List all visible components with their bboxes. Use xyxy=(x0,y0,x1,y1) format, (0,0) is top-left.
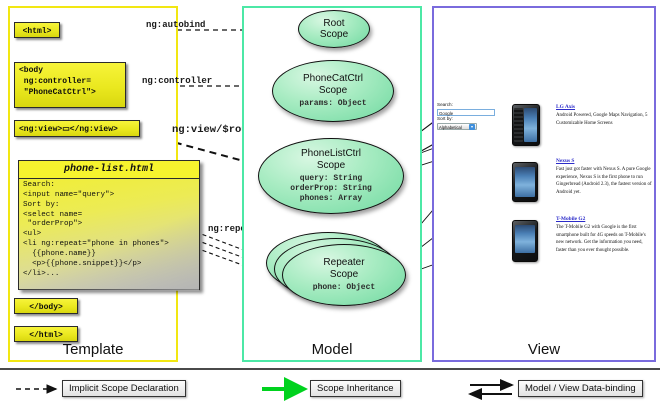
phone-screen xyxy=(515,167,535,197)
phone-screen xyxy=(515,225,535,253)
legend-item-scope-inheritance: Scope Inheritance xyxy=(310,378,401,398)
column-view-label: View xyxy=(434,341,654,358)
scope-root-name-1: Root xyxy=(323,18,344,29)
phone-entry-tmobile-g2: T-Mobile G2 The T-Mobile G2 with Google … xyxy=(556,216,652,254)
html-tag-box: <html> xyxy=(14,22,60,38)
scope-phonecatctrl-name-2: Scope xyxy=(319,85,347,96)
phone-entry-nexus-s: Nexus S Fast just got faster with Nexus … xyxy=(556,158,652,196)
view-search-label: Search: xyxy=(437,102,499,109)
view-search-input[interactable]: Google xyxy=(437,109,495,116)
body-tag-box: <body ng:controller= "PhoneCatCtrl"> xyxy=(14,62,126,108)
scope-phonecatctrl: PhoneCatCtrl Scope params: Object xyxy=(272,60,394,122)
view-sort-value: Alphabetical xyxy=(439,125,462,130)
phone-entry-lg-axis: LG Axis Android Powered, Google Maps Nav… xyxy=(556,104,652,127)
html-close-box: </html> xyxy=(14,326,78,342)
scope-phonelistctrl-name-2: Scope xyxy=(317,160,345,171)
phone-screen xyxy=(524,108,537,142)
chevron-down-icon: ▾ xyxy=(469,124,475,130)
scope-repeater-props: phone: Object xyxy=(313,283,375,293)
phone-list-partial-panel: phone-list.html Search: <input name="que… xyxy=(18,160,200,290)
scope-phonelistctrl-name-1: PhoneListCtrl xyxy=(301,148,361,159)
scope-phonecatctrl-props: params: Object xyxy=(299,99,366,109)
scope-root: Root Scope xyxy=(298,10,370,48)
phone-entry-snippet: Android Powered, Google Maps Navigation,… xyxy=(556,112,652,127)
phone-list-partial-title: phone-list.html xyxy=(19,161,199,179)
scope-root-name-2: Scope xyxy=(320,29,348,40)
phone-entry-link[interactable]: Nexus S xyxy=(556,158,652,164)
view-search-widget: Search: Google Sort by: Alphabetical▾ xyxy=(437,102,499,130)
scope-phonecatctrl-name-1: PhoneCatCtrl xyxy=(303,73,363,84)
phone-entry-link[interactable]: LG Axis xyxy=(556,104,652,110)
phone-entry-snippet: Fast just got faster with Nexus S. A pur… xyxy=(556,166,652,195)
diagram-canvas: Template <html> <body ng:controller= "Ph… xyxy=(0,0,660,368)
phone-thumbnail-lg-axis xyxy=(512,104,540,146)
phone-list-partial-code: Search: <input name="query"> Sort by: <s… xyxy=(19,178,199,291)
connector-label-controller: ng:controller xyxy=(142,76,212,86)
keyboard-graphic xyxy=(514,108,523,142)
connector-label-autobind: ng:autobind xyxy=(146,20,205,30)
phone-entry-link[interactable]: T-Mobile G2 xyxy=(556,216,652,222)
scope-repeater-name-1: Repeater xyxy=(323,257,364,268)
view-sort-label: Sort by: xyxy=(437,116,499,123)
diagram-stage: Template <html> <body ng:controller= "Ph… xyxy=(0,0,660,405)
phone-thumbnail-tmobile-g2 xyxy=(512,220,538,262)
ng-view-placeholder-icon: ▭ xyxy=(62,125,70,134)
view-sort-select[interactable]: Alphabetical▾ xyxy=(437,123,477,131)
body-close-box: </body> xyxy=(14,298,78,314)
legend-label-scope-inheritance: Scope Inheritance xyxy=(310,380,401,397)
legend-label-implicit-scope: Implicit Scope Declaration xyxy=(62,380,186,397)
ng-view-tag-box: <ng:view>▭</ng:view> xyxy=(14,120,140,137)
column-template-label: Template xyxy=(10,341,176,358)
phone-thumbnail-nexus-s xyxy=(512,162,538,202)
column-model-label: Model xyxy=(244,341,420,358)
scope-repeater-name-2: Scope xyxy=(330,269,358,280)
legend-item-implicit-scope: Implicit Scope Declaration xyxy=(62,378,186,398)
scope-phonelistctrl: PhoneListCtrl Scope query: String orderP… xyxy=(258,138,404,214)
phone-entry-snippet: The T-Mobile G2 with Google is the first… xyxy=(556,224,652,253)
legend-item-data-binding: Model / View Data-binding xyxy=(518,378,643,398)
legend: Implicit Scope Declaration Scope Inherit… xyxy=(0,368,660,407)
scope-repeater: Repeater Scope phone: Object xyxy=(282,244,406,306)
scope-phonelistctrl-props: query: String orderProp: String phones: … xyxy=(290,174,372,204)
ng-view-close: </ng:view> xyxy=(70,125,118,134)
legend-label-data-binding: Model / View Data-binding xyxy=(518,380,643,397)
ng-view-open: <ng:view> xyxy=(19,125,62,134)
